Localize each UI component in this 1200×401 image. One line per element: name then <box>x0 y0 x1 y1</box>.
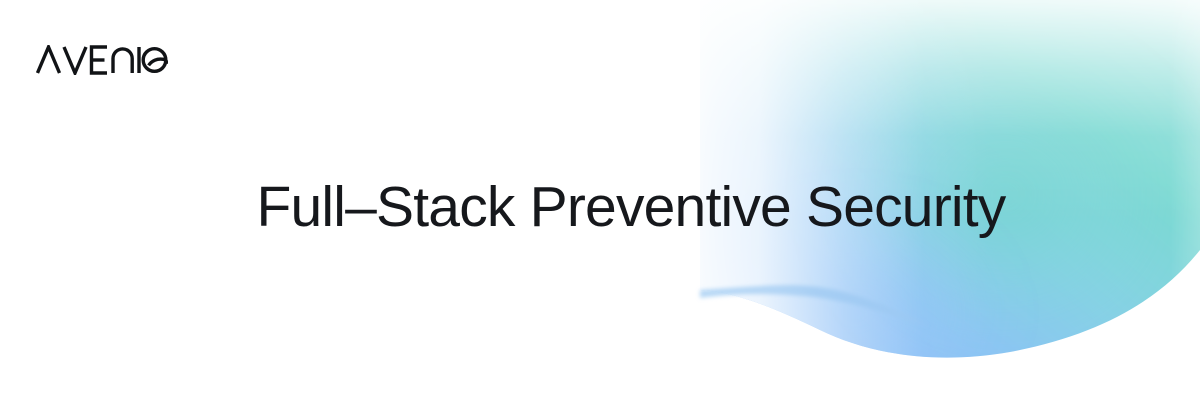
aveniq-logo[interactable] <box>36 45 168 75</box>
logo-letter-n <box>113 49 132 73</box>
page-title: Full–Stack Preventive Security <box>0 175 1200 239</box>
logo-letter-a <box>38 47 60 73</box>
logo-letter-v <box>64 47 86 73</box>
hero-banner: Full–Stack Preventive Security <box>0 0 1200 401</box>
